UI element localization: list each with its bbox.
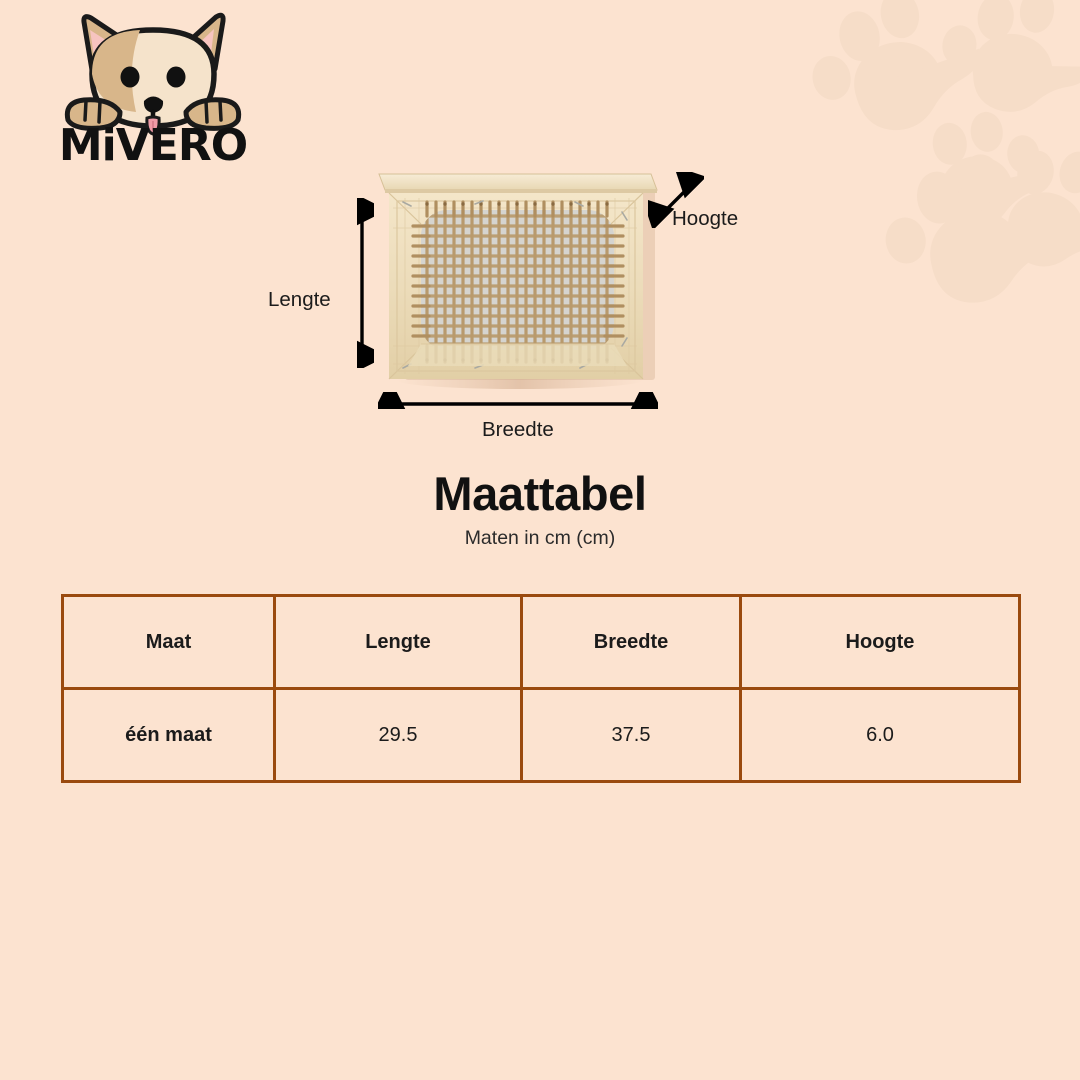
column-header-height: Hoogte (741, 596, 1020, 689)
cell-length: 29.5 (275, 689, 522, 782)
page-title: Maattabel (0, 466, 1080, 521)
table-row: één maat 29.5 37.5 6.0 (63, 689, 1020, 782)
height-label: Hoogte (672, 207, 738, 231)
dog-eye-right (167, 67, 186, 88)
column-header-width: Breedte (522, 596, 741, 689)
cell-height: 6.0 (741, 689, 1020, 782)
dog-eye-left (121, 67, 140, 88)
table-header-row: Maat Lengte Breedte Hoogte (63, 596, 1020, 689)
length-label: Lengte (268, 288, 331, 312)
column-header-length: Lengte (275, 596, 522, 689)
page-subtitle: Maten in cm (cm) (0, 527, 1080, 550)
product-dimension-diagram: Lengte Breedte Hoogte (250, 160, 810, 450)
brand-wordmark: MiVERO (59, 120, 247, 168)
column-header-size: Maat (63, 596, 275, 689)
brand-logo: MiVERO (48, 8, 258, 168)
width-label: Breedte (482, 418, 554, 442)
cell-width: 37.5 (522, 689, 741, 782)
cell-size: één maat (63, 689, 275, 782)
size-chart-table: Maat Lengte Breedte Hoogte één maat 29.5… (61, 594, 1021, 783)
product-image-wooden-rope-frame (375, 168, 660, 393)
length-arrow (350, 198, 374, 368)
width-arrow (378, 392, 658, 416)
